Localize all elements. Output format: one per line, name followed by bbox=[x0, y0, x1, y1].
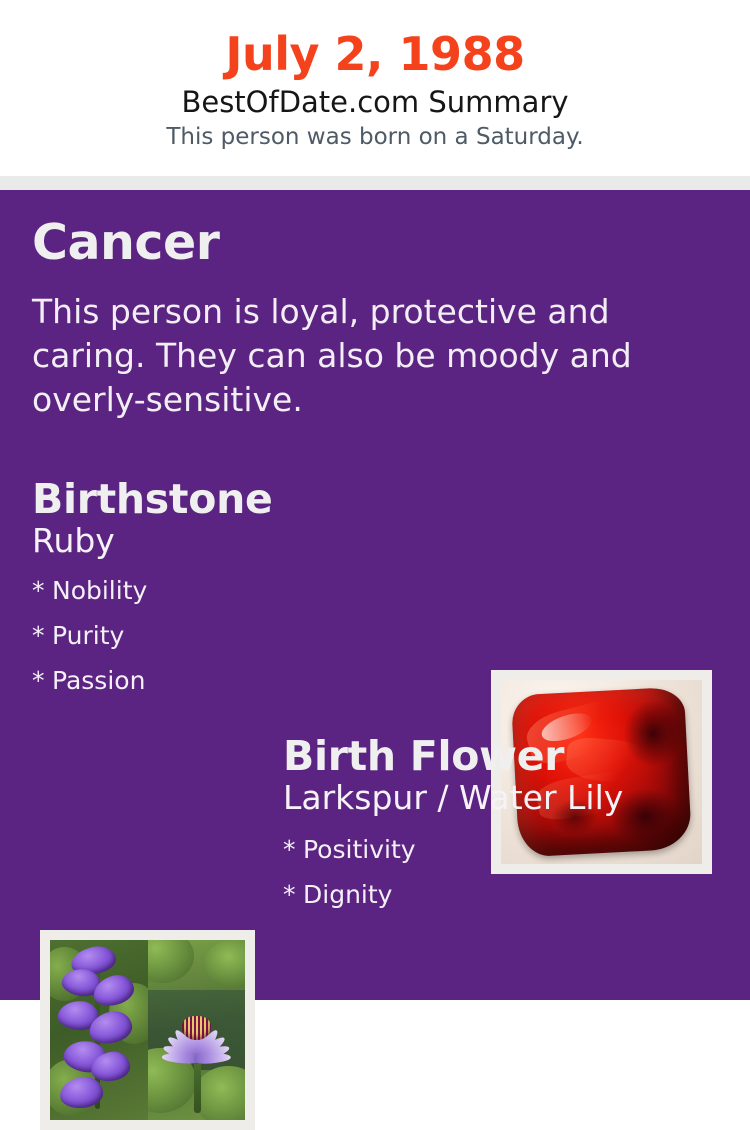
lily-pad bbox=[194, 1066, 245, 1120]
header-divider bbox=[0, 176, 750, 190]
zodiac-description: This person is loyal, protective and car… bbox=[32, 290, 652, 422]
list-item: *Positivity bbox=[283, 827, 723, 872]
birth-flower-image bbox=[40, 930, 255, 1130]
birth-flower-trait-label: Positivity bbox=[303, 835, 416, 864]
birthstone-trait-list: *Nobility *Purity *Passion bbox=[32, 560, 462, 703]
water-lily-bloom bbox=[160, 994, 232, 1066]
bullet-star-icon: * bbox=[32, 613, 52, 658]
birth-flower-trait-list: *Positivity *Dignity bbox=[283, 817, 723, 917]
birthstone-name: Ruby bbox=[32, 521, 462, 560]
card-header: July 2, 1988 BestOfDate.com Summary This… bbox=[0, 0, 750, 176]
birth-flower-trait-label: Dignity bbox=[303, 880, 392, 909]
birthstone-trait-label: Passion bbox=[52, 666, 145, 695]
lily-pad bbox=[148, 940, 195, 983]
bullet-star-icon: * bbox=[283, 827, 303, 872]
birthstone-trait-label: Purity bbox=[52, 621, 124, 650]
bullet-star-icon: * bbox=[32, 568, 52, 613]
birth-flower-heading: Birth Flower bbox=[283, 735, 723, 778]
list-item: *Passion bbox=[32, 658, 462, 703]
summary-card: July 2, 1988 BestOfDate.com Summary This… bbox=[0, 0, 750, 1000]
list-item: *Dignity bbox=[283, 872, 723, 917]
zodiac-sign-title: Cancer bbox=[32, 218, 219, 267]
list-item: *Nobility bbox=[32, 568, 462, 613]
bullet-star-icon: * bbox=[283, 872, 303, 917]
details-panel: Cancer This person is loyal, protective … bbox=[0, 190, 750, 1000]
water-lily-photo-half bbox=[148, 940, 246, 1120]
bullet-star-icon: * bbox=[32, 658, 52, 703]
birth-flower-section: Birth Flower Larkspur / Water Lily *Posi… bbox=[283, 735, 723, 917]
birth-flower-name: Larkspur / Water Lily bbox=[283, 778, 723, 817]
flower-photo-split bbox=[50, 940, 245, 1120]
lily-petal bbox=[193, 1052, 231, 1064]
list-item: *Purity bbox=[32, 613, 462, 658]
lily-pad bbox=[204, 940, 245, 987]
birthstone-section: Birthstone Ruby *Nobility *Purity *Passi… bbox=[32, 478, 462, 703]
larkspur-photo-half bbox=[50, 940, 148, 1120]
birth-flower-image-inner bbox=[50, 940, 245, 1120]
birthstone-heading: Birthstone bbox=[32, 478, 462, 521]
birth-day-note: This person was born on a Saturday. bbox=[0, 119, 750, 150]
site-summary-label: BestOfDate.com Summary bbox=[0, 78, 750, 119]
page-title-date: July 2, 1988 bbox=[0, 0, 750, 78]
birthstone-trait-label: Nobility bbox=[52, 576, 147, 605]
